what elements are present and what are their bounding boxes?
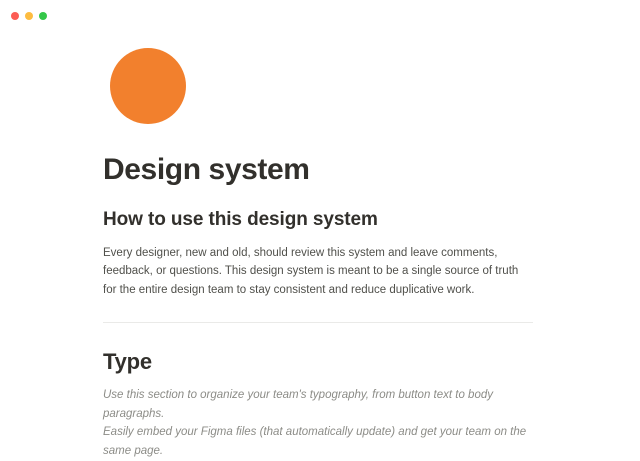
section-paragraph-how-to-use[interactable]: Every designer, new and old, should revi… [103,232,533,300]
section-note-type[interactable]: Use this section to organize your team's… [103,375,533,461]
maximize-window-button[interactable] [39,12,47,20]
section-heading-how-to-use[interactable]: How to use this design system [103,188,533,232]
window-controls [11,12,50,20]
section-note-type-line-1: Use this section to organize your team's… [103,386,533,423]
page-title[interactable]: Design system [103,124,533,188]
section-heading-type[interactable]: Type [103,323,533,375]
document-content-column: Design system How to use this design sys… [103,34,533,461]
window-titlebar [0,0,640,34]
document-canvas: Design system How to use this design sys… [0,34,640,400]
minimize-window-button[interactable] [25,12,33,20]
section-note-type-line-2: Easily embed your Figma files (that auto… [103,423,533,460]
close-window-button[interactable] [11,12,19,20]
orange-circle-icon [110,48,186,124]
